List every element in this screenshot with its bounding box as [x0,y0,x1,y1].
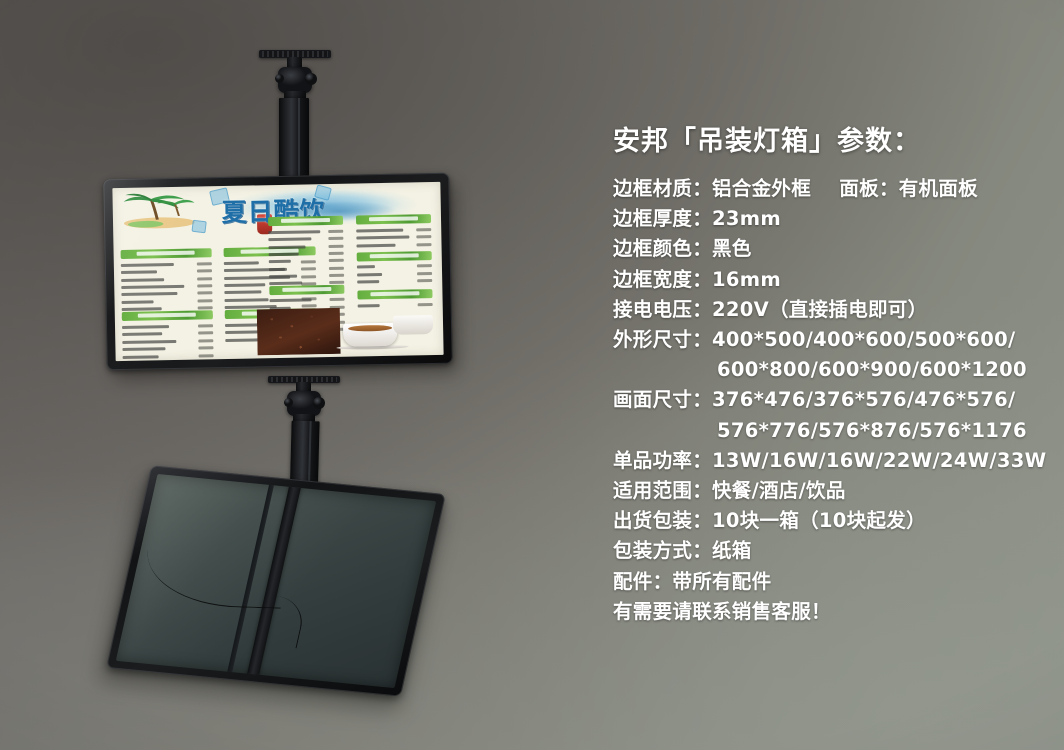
spec-line: 边框厚度：23mm [613,204,1043,234]
menu-row [122,323,213,331]
menu-section-header [357,289,433,299]
spec-line: 包装方式：纸箱 [613,536,1043,566]
menu-row [121,297,212,305]
menu-section-header [120,249,211,260]
menu-face: 夏日酷饮 [112,182,443,361]
menu-section [268,216,345,289]
tilt-knob-lower [313,397,325,409]
coffee-cup-front [343,323,397,347]
lightbox-back-panel [116,474,436,688]
menu-row [120,268,211,276]
spec-line: 接电电压：220V（直接插电即可） [613,295,1043,325]
tilt-knob-lower-left [284,398,293,407]
menu-row [120,261,211,269]
menu-section-header [269,285,345,295]
tilt-knob-upper-left [275,74,284,83]
coffee-cup-back [393,315,433,336]
spec-line: 边框宽度：16mm [613,265,1043,295]
lightbox-upper: 夏日酷饮 [103,173,453,371]
menu-row [268,235,344,242]
menu-row [122,338,213,346]
menu-section [356,251,432,287]
product-photo-scene: 夏日酷饮 [0,0,1064,750]
menu-row [269,297,345,304]
menu-row [122,345,213,353]
spec-line: 画面尺寸：376*476/376*576/476*576/ [613,385,1043,415]
menu-section-header [356,214,432,224]
menu-row [268,228,344,235]
menu-row [121,290,212,298]
menu-row [122,352,213,360]
spec-line: 边框颜色：黑色 [613,234,1043,264]
drop-pole-upper [279,98,309,183]
spec-line: 配件：带所有配件 [613,567,1043,597]
lightbox-lower [106,465,446,696]
spec-line-continuation: 600*800/600*900/600*1200 [613,355,1043,385]
menu-row [356,241,432,248]
spec-line: 单品功率：13W/16W/16W/22W/24W/33W [613,446,1043,476]
menu-row [268,243,344,250]
menu-row [269,272,345,279]
menu-row [122,330,213,338]
menu-row [121,283,212,291]
menu-row [357,263,433,270]
menu-row [357,278,433,285]
spec-panel: 安邦「吊装灯箱」参数： 边框材质：铝合金外框 面板：有机面板 边框厚度：23mm… [613,122,1043,627]
menu-columns [120,244,437,357]
coffee-photo [257,306,437,355]
spec-title: 安邦「吊装灯箱」参数： [613,122,1043,162]
menu-section-header [356,251,432,261]
coffee-beans-image [257,308,340,355]
menu-section-header [121,311,212,322]
pole-edge-highlight [298,98,300,183]
menu-row [356,234,432,241]
menu-row [268,250,344,257]
spec-line: 外形尺寸：400*500/400*600/500*600/ [613,325,1043,355]
spec-line: 适用范围：快餐/酒店/饮品 [613,476,1043,506]
menu-section-header [268,216,344,226]
menu-row [268,258,344,265]
menu-section [121,311,213,361]
spec-line: 出货包装：10块一箱（10块起发） [613,506,1043,536]
menu-section [356,214,432,250]
spec-line-continuation: 576*776/576*876/576*1176 [613,416,1043,446]
tilt-knob-upper [305,73,317,85]
spec-line: 有需要请联系销售客服！ [613,597,1043,627]
spec-line: 边框材质：铝合金外框 面板：有机面板 [613,174,1043,204]
menu-row [357,270,433,277]
ceiling-mount-upper [245,50,345,180]
menu-row [121,275,212,283]
menu-row [268,265,344,272]
menu-row [356,226,432,233]
